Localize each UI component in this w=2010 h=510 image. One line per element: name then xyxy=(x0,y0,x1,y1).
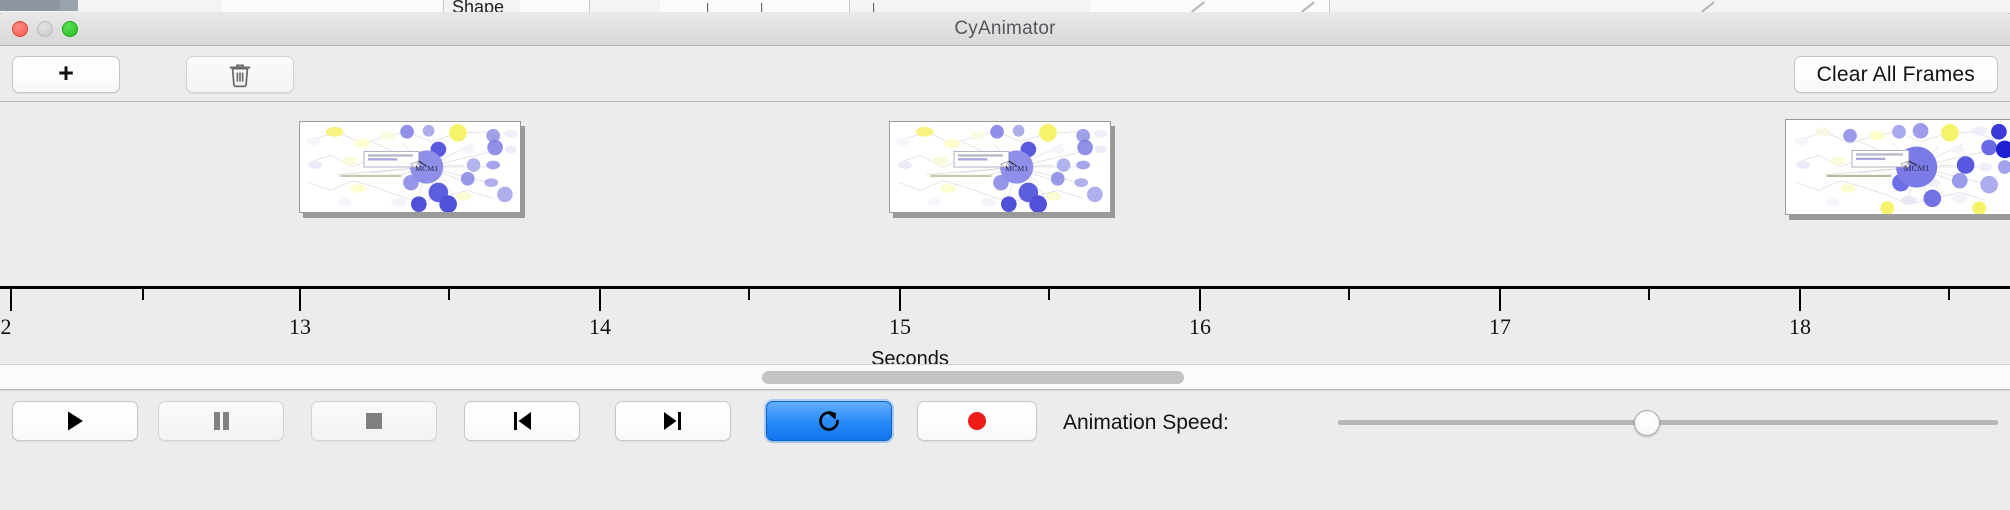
animation-speed-slider-thumb[interactable] xyxy=(1634,410,1660,436)
axis-tick-label: 16 xyxy=(1189,314,1211,340)
axis-tick-major xyxy=(1199,289,1201,311)
svg-text:MCM1: MCM1 xyxy=(1904,163,1930,173)
axis-tick-minor xyxy=(1348,289,1350,300)
axis-title: Seconds xyxy=(0,348,2010,364)
thumbnail-body: MCM1 xyxy=(299,121,521,213)
network-graph-preview: MCM1 xyxy=(300,122,520,212)
axis-title-text: Seconds xyxy=(871,348,949,364)
timeline-axis[interactable]: 2 13 14 15 16 17 18 Seconds xyxy=(0,286,2010,364)
axis-line xyxy=(0,286,2010,289)
axis-tick-label: 14 xyxy=(589,314,611,340)
plus-icon: + xyxy=(58,60,74,87)
axis-tick-major xyxy=(899,289,901,311)
axis-tick-major xyxy=(10,289,12,311)
horizontal-scrollbar[interactable] xyxy=(0,364,2010,390)
play-button[interactable] xyxy=(12,401,138,441)
stop-button[interactable] xyxy=(311,401,437,441)
axis-tick-major xyxy=(299,289,301,311)
background-tab-active xyxy=(0,0,60,11)
play-icon xyxy=(62,408,88,434)
cyanimator-window: CyAnimator + Clear All Frames xyxy=(0,12,2010,510)
axis-tick-label: 13 xyxy=(289,314,311,340)
svg-text:MCM1: MCM1 xyxy=(415,164,438,173)
clear-all-frames-button[interactable]: Clear All Frames xyxy=(1794,56,1998,93)
delete-frame-button[interactable] xyxy=(186,56,294,93)
axis-tick-label: 15 xyxy=(889,314,911,340)
skip-back-icon xyxy=(509,408,535,434)
trash-icon xyxy=(228,62,252,88)
axis-tick-minor xyxy=(1948,289,1950,300)
axis-tick-label: 18 xyxy=(1789,314,1811,340)
frame-thumbnail[interactable]: MCM1 xyxy=(1785,119,2010,215)
axis-tick-minor xyxy=(448,289,450,300)
thumbnail-body: MCM1 xyxy=(889,121,1111,213)
axis-tick-label: 17 xyxy=(1489,314,1511,340)
scrollbar-thumb[interactable] xyxy=(762,371,1184,384)
background-diagonal xyxy=(1701,1,1715,12)
record-icon xyxy=(964,408,990,434)
pause-button[interactable] xyxy=(158,401,284,441)
animation-speed-slider[interactable] xyxy=(1338,420,1998,425)
skip-to-end-button[interactable] xyxy=(615,401,731,441)
skip-to-start-button[interactable] xyxy=(464,401,580,441)
stop-icon xyxy=(361,408,387,434)
frame-thumbnail[interactable]: MCM1 xyxy=(889,121,1111,213)
toolbar: + Clear All Frames xyxy=(0,46,2010,102)
pause-icon xyxy=(208,408,234,434)
network-graph-preview: MCM1 xyxy=(1786,120,2010,214)
skip-forward-icon xyxy=(660,408,686,434)
axis-tick-minor xyxy=(748,289,750,300)
record-button[interactable] xyxy=(917,401,1037,441)
axis-tick-minor xyxy=(1048,289,1050,300)
playbar-divider xyxy=(0,390,2010,391)
axis-tick-label: 2 xyxy=(1,314,12,340)
background-tab-active-2 xyxy=(60,0,78,11)
title-bar[interactable]: CyAnimator xyxy=(0,12,2010,46)
axis-tick-minor xyxy=(1648,289,1650,300)
axis-tick-minor xyxy=(142,289,144,300)
axis-tick-major xyxy=(1799,289,1801,311)
axis-tick-major xyxy=(1499,289,1501,311)
playback-controls-bar: Animation Speed: xyxy=(0,390,2010,452)
timeline-frames-area[interactable]: MCM1 xyxy=(0,102,2010,364)
animation-speed-label: Animation Speed: xyxy=(1063,411,1229,435)
axis-tick-major xyxy=(599,289,601,311)
frame-thumbnail[interactable]: MCM1 xyxy=(299,121,521,213)
clear-all-frames-label: Clear All Frames xyxy=(1817,63,1975,87)
page-title: CyAnimator xyxy=(0,18,2010,40)
add-frame-button[interactable]: + xyxy=(12,56,120,93)
thumbnail-body: MCM1 xyxy=(1785,119,2010,215)
network-graph-preview: MCM1 xyxy=(890,122,1110,212)
svg-text:MCM1: MCM1 xyxy=(1005,164,1028,173)
loop-button[interactable] xyxy=(766,401,892,441)
loop-refresh-icon xyxy=(815,407,843,435)
